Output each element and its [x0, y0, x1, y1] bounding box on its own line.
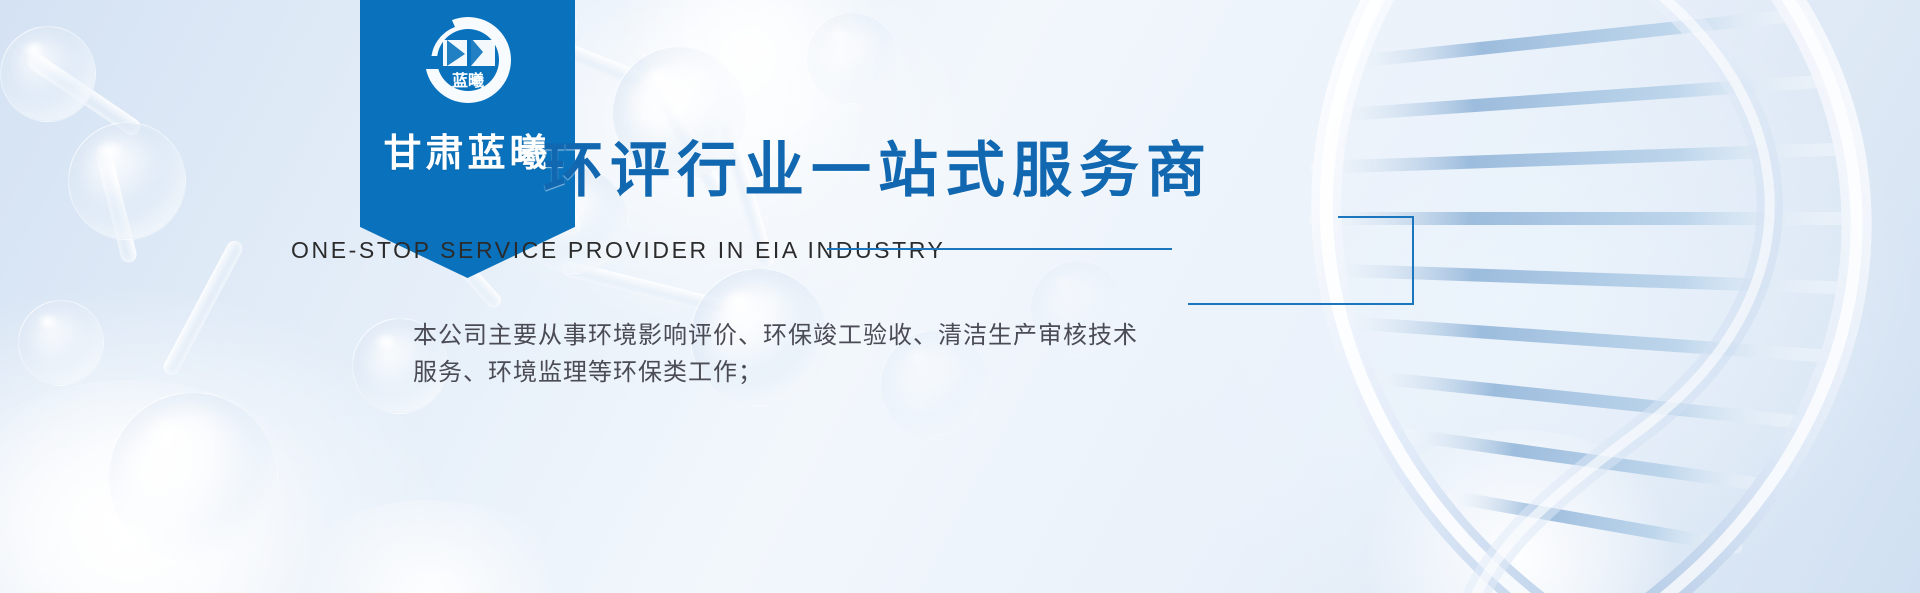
molecule-bond [161, 238, 246, 378]
corner-bracket-decoration [1338, 216, 1414, 305]
molecule-atom [18, 300, 104, 386]
logo-mark-text: 蓝曦 [451, 71, 483, 90]
molecule-atom [108, 392, 278, 562]
description-line-2: 服务、环境监理等环保类工作； [413, 355, 1193, 392]
company-description: 本公司主要从事环境影响评价、环保竣工验收、清洁生产审核技术 服务、环境监理等环保… [413, 318, 1193, 392]
page-title: 环评行业一站式服务商 [543, 141, 1213, 201]
lanxi-circle-logo-svg: 蓝曦 [413, 10, 523, 112]
molecule-atom [806, 12, 898, 104]
bracket-vertical-line [1412, 216, 1414, 305]
molecule-atom [68, 122, 186, 240]
hero-banner: 蓝曦 甘肃蓝曦 环评行业一站式服务商 ONE-STOP SERVICE PROV… [0, 0, 1920, 593]
bracket-bottom-line [1188, 303, 1414, 305]
lanxi-circle-logo-icon: 蓝曦 [360, 6, 575, 116]
subtitle-rule [827, 248, 1172, 250]
description-line-1: 本公司主要从事环境影响评价、环保竣工验收、清洁生产审核技术 [413, 318, 1193, 355]
page-subtitle: ONE-STOP SERVICE PROVIDER IN EIA INDUSTR… [291, 237, 945, 264]
molecule-atom [0, 26, 96, 122]
bracket-top-line [1338, 216, 1414, 218]
light-glow [280, 500, 580, 593]
